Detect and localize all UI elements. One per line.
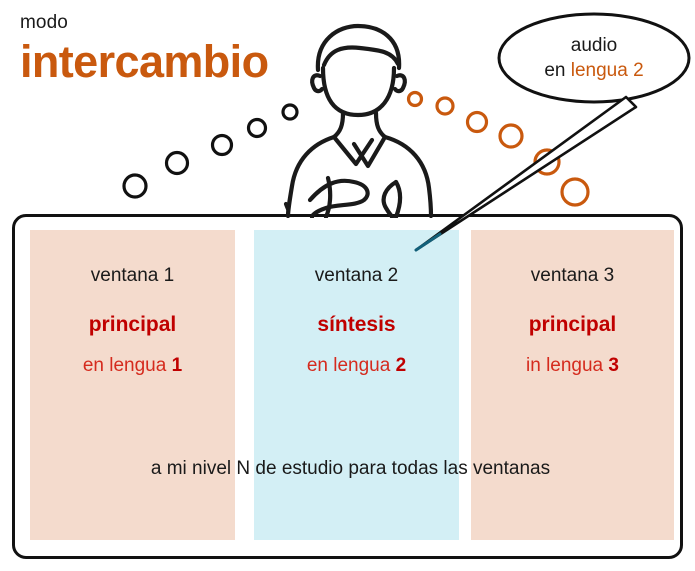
window-1-name: ventana 1 <box>91 264 174 288</box>
window-1-language: en lengua 1 <box>83 354 182 378</box>
window-2-language: en lengua 2 <box>307 354 406 378</box>
balloon-text-group: audio en lengua 2 <box>496 12 692 104</box>
window-2-lang-prefix: en lengua <box>307 355 396 376</box>
window-2-role: síntesis <box>317 312 395 338</box>
windows-panel: ventana 1 principal en lengua 1 ventana … <box>12 214 683 559</box>
window-3-lang-prefix: in lengua <box>526 355 608 376</box>
window-3-name: ventana 3 <box>531 264 614 288</box>
level-caption: a mi nivel N de estudio para todas las v… <box>15 457 686 481</box>
balloon-line2-prefix: en <box>544 60 570 81</box>
window-1-lang-prefix: en lengua <box>83 355 172 376</box>
window-2-name: ventana 2 <box>315 264 398 288</box>
balloon-line-language: en lengua 2 <box>544 59 643 83</box>
balloon-pointer-arrow-icon <box>380 95 640 265</box>
page-title: intercambio <box>20 36 268 88</box>
windows-row: ventana 1 principal en lengua 1 ventana … <box>15 217 686 562</box>
audio-speech-balloon: audio en lengua 2 <box>496 12 692 104</box>
window-3-role: principal <box>529 312 617 338</box>
window-3-lang-number: 3 <box>608 355 619 376</box>
window-column-3[interactable]: ventana 3 principal in lengua 3 <box>471 230 674 540</box>
balloon-line-audio: audio <box>571 34 618 58</box>
balloon-line2-accent: lengua 2 <box>571 60 644 81</box>
window-1-lang-number: 1 <box>172 355 183 376</box>
window-column-2[interactable]: ventana 2 síntesis en lengua 2 <box>254 230 459 540</box>
window-1-role: principal <box>89 312 177 338</box>
window-column-1[interactable]: ventana 1 principal en lengua 1 <box>30 230 235 540</box>
window-3-language: in lengua 3 <box>526 354 619 378</box>
window-2-lang-number: 2 <box>396 355 407 376</box>
mode-label: modo <box>20 12 268 34</box>
header-block: modo intercambio <box>20 12 268 88</box>
